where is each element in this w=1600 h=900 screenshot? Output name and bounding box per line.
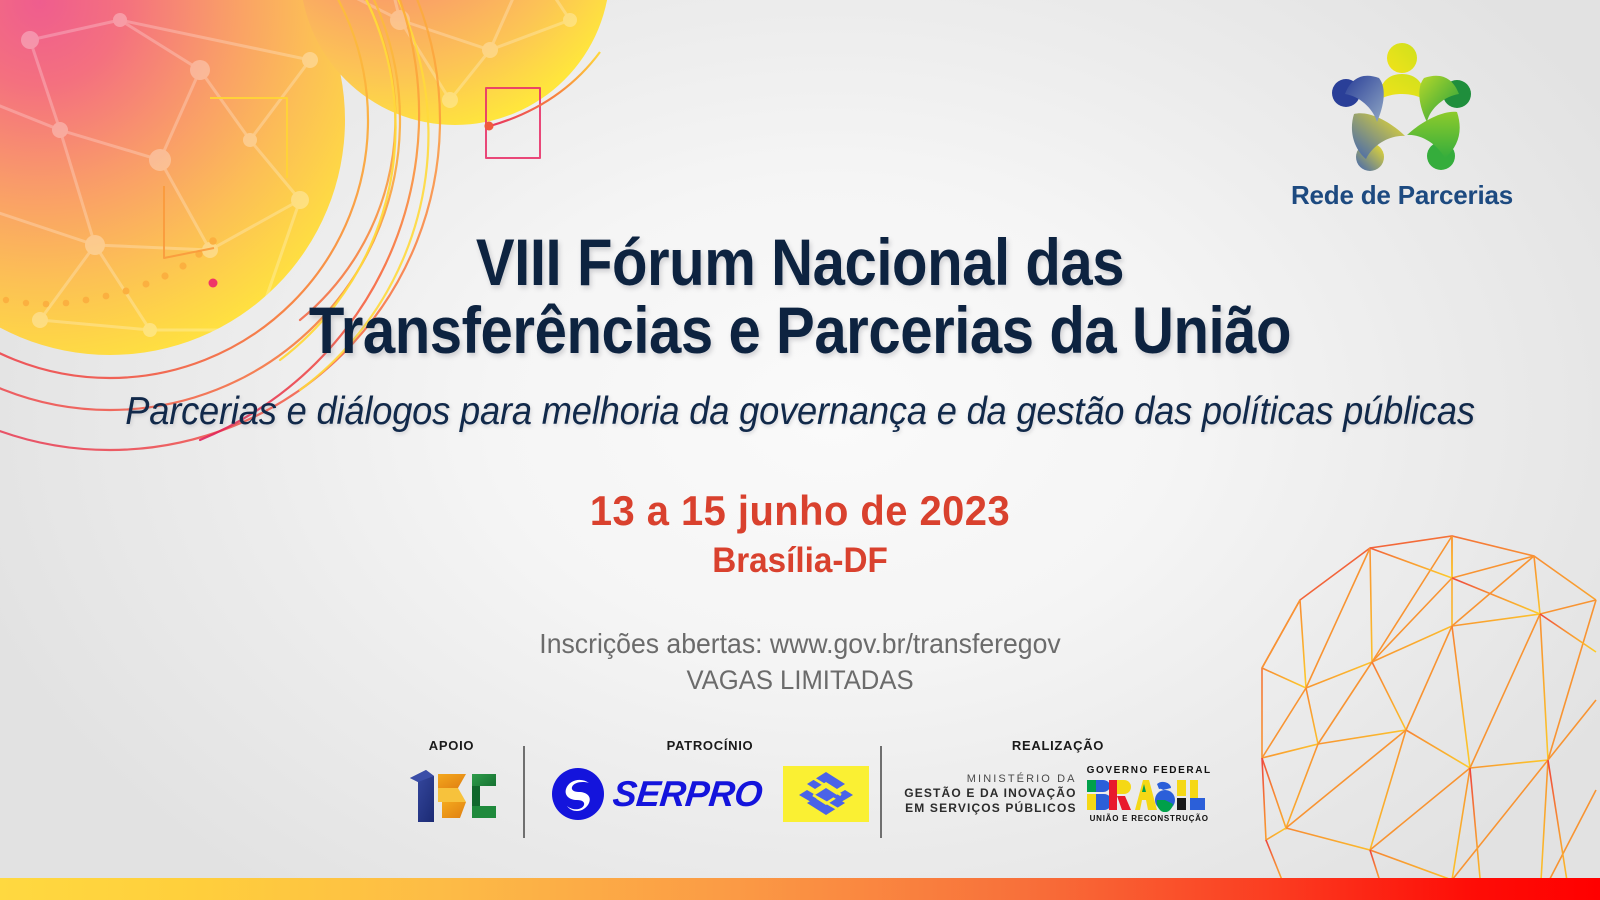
event-banner: Rede de Parcerias VIII Fórum Nacional da… (0, 0, 1600, 900)
sponsor-label-patrocinio: PATROCÍNIO (540, 738, 880, 753)
event-subtitle: Parcerias e diálogos para melhoria da go… (56, 390, 1544, 434)
serpro-wordmark: SERPRO (611, 773, 764, 815)
brasil-logo (1087, 778, 1205, 812)
sponsor-label-realizacao: REALIZAÇÃO (896, 738, 1220, 753)
page-title: VIII Fórum Nacional das Transferências e… (0, 228, 1600, 364)
ministry-line-1: MINISTÉRIO DA (904, 773, 1076, 785)
ministry-line-2: GESTÃO E DA INOVAÇÃO (904, 786, 1076, 800)
title-line-2: Transferências e Parcerias da União (96, 296, 1504, 364)
registration-link-text[interactable]: Inscrições abertas: www.gov.br/transfere… (40, 628, 1560, 660)
isc-logo (404, 762, 500, 826)
uniao-reconstrucao-label: UNIÃO E RECONSTRUÇÃO (1087, 814, 1212, 823)
sponsor-divider-1 (523, 746, 525, 838)
rede-de-parcerias-mark (1317, 38, 1487, 178)
ministry-lockup: MINISTÉRIO DA GESTÃO E DA INOVAÇÃO EM SE… (904, 773, 1076, 815)
rede-de-parcerias-wordmark: Rede de Parcerias (1288, 180, 1516, 211)
serpro-mark-icon (551, 767, 605, 821)
bottom-gradient-bar (0, 878, 1600, 900)
sponsor-group-patrocinio: PATROCÍNIO SERPRO (540, 738, 880, 829)
sponsor-divider-2 (880, 746, 882, 838)
event-city: Brasília-DF (40, 541, 1560, 581)
sponsor-label-apoio: APOIO (380, 738, 523, 753)
sponsor-strip: APOIO (380, 738, 1220, 848)
governo-federal-lockup: GOVERNO FEDERAL (1087, 765, 1212, 823)
governo-federal-label: GOVERNO FEDERAL (1087, 765, 1212, 776)
title-line-1: VIII Fórum Nacional das (96, 228, 1504, 296)
banco-do-brasil-logo (783, 766, 869, 822)
limited-seats-note: VAGAS LIMITADAS (40, 665, 1560, 696)
event-date-block: 13 a 15 junho de 2023 Brasília-DF (0, 487, 1600, 581)
sponsor-group-apoio: APOIO (380, 738, 523, 829)
ministry-line-3: EM SERVIÇOS PÚBLICOS (904, 801, 1076, 815)
serpro-logo: SERPRO (551, 767, 762, 821)
sponsor-group-realizacao: REALIZAÇÃO MINISTÉRIO DA GESTÃO E DA INO… (896, 738, 1220, 829)
event-date: 13 a 15 junho de 2023 (40, 487, 1560, 535)
registration-info: Inscrições abertas: www.gov.br/transfere… (0, 628, 1600, 696)
rede-de-parcerias-logo: Rede de Parcerias (1288, 38, 1516, 211)
